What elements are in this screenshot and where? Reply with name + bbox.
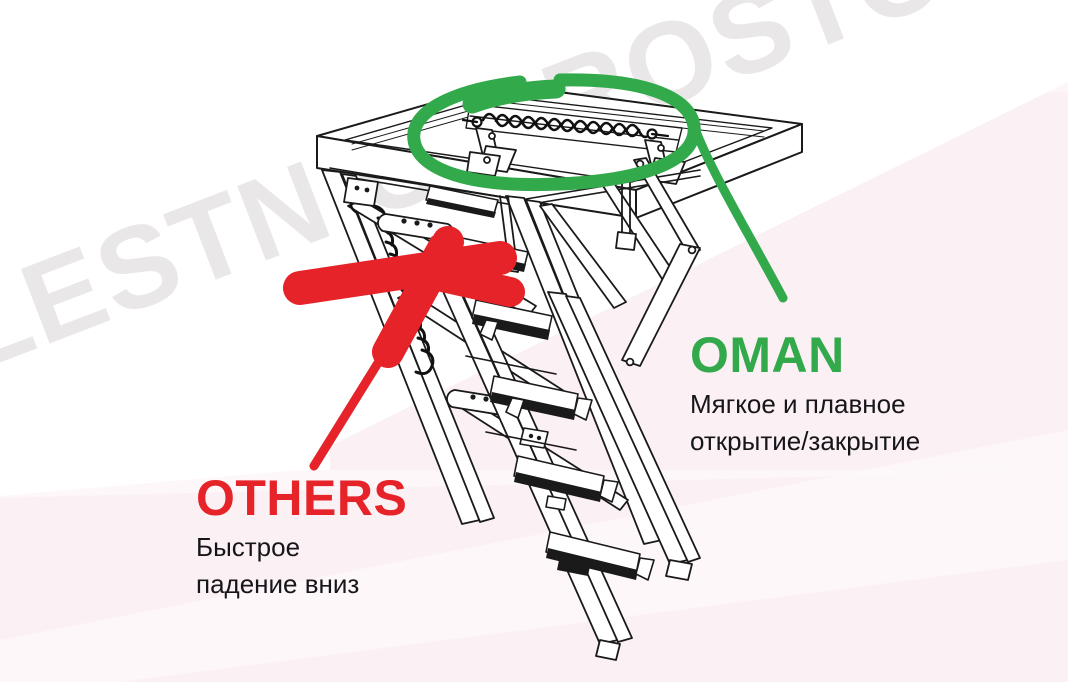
annotation-layer bbox=[0, 0, 1068, 682]
red-arrow-callout bbox=[300, 236, 510, 466]
illustration-canvas: LESTNIC-PROSTO.RU bbox=[0, 0, 1068, 682]
